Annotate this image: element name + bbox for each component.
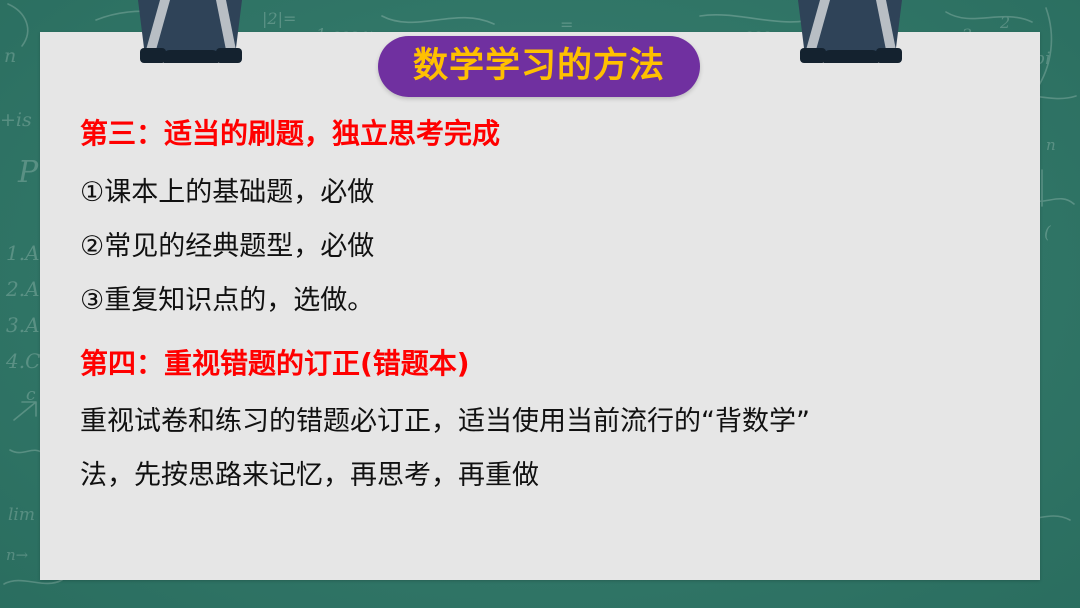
svg-text:(: ( bbox=[1044, 223, 1051, 243]
spacer bbox=[80, 384, 1000, 408]
slide-title-text: 数学学习的方法 bbox=[413, 49, 665, 84]
svg-text:|2|=: |2|= bbox=[262, 9, 296, 28]
svg-text:n→: n→ bbox=[6, 546, 29, 564]
spacer bbox=[80, 435, 1000, 462]
slide-body: 第三：适当的刷题，独立思考完成 ①课本上的基础题，必做 ②常见的经典题型，必做 … bbox=[80, 108, 1000, 489]
svg-text:c: c bbox=[26, 385, 36, 405]
section-third-line-1: ①课本上的基础题，必做 bbox=[80, 179, 1000, 206]
section-third-line-3: ③重复知识点的，选做。 bbox=[80, 287, 1000, 314]
svg-text:4.C: 4.C bbox=[5, 349, 40, 373]
svg-text:P: P bbox=[17, 155, 39, 190]
spacer bbox=[80, 314, 1000, 350]
svg-text:lim: lim bbox=[8, 505, 35, 525]
slide-root: n +is P 1.A 2.A 3.A 4.C c lim n→ |2|= 1-… bbox=[0, 0, 1080, 608]
svg-text:1.A: 1.A bbox=[6, 241, 40, 265]
section-fourth-line-2: 法，先按思路来记忆，再思考，再重做 bbox=[80, 462, 1000, 489]
svg-text:2.A: 2.A bbox=[5, 277, 40, 301]
slide-title-pill: 数学学习的方法 bbox=[378, 36, 700, 97]
section-heading-fourth: 第四：重视错题的订正(错题本) bbox=[80, 350, 1000, 378]
section-heading-third: 第三：适当的刷题，独立思考完成 bbox=[80, 120, 1000, 148]
spacer bbox=[80, 154, 1000, 179]
svg-text:2: 2 bbox=[999, 13, 1010, 32]
spacer bbox=[80, 260, 1000, 287]
svg-text:n: n bbox=[1046, 136, 1056, 154]
binder-clip-left bbox=[130, 0, 250, 63]
svg-text:3.A: 3.A bbox=[6, 313, 40, 337]
spacer bbox=[80, 206, 1000, 233]
binder-clip-right bbox=[790, 0, 910, 63]
svg-text:n: n bbox=[4, 45, 16, 67]
section-fourth-line-1: 重视试卷和练习的错题必订正，适当使用当前流行的“背数学” bbox=[80, 408, 1000, 435]
svg-text:+is: +is bbox=[0, 109, 32, 131]
section-third-line-2: ②常见的经典题型，必做 bbox=[80, 233, 1000, 260]
